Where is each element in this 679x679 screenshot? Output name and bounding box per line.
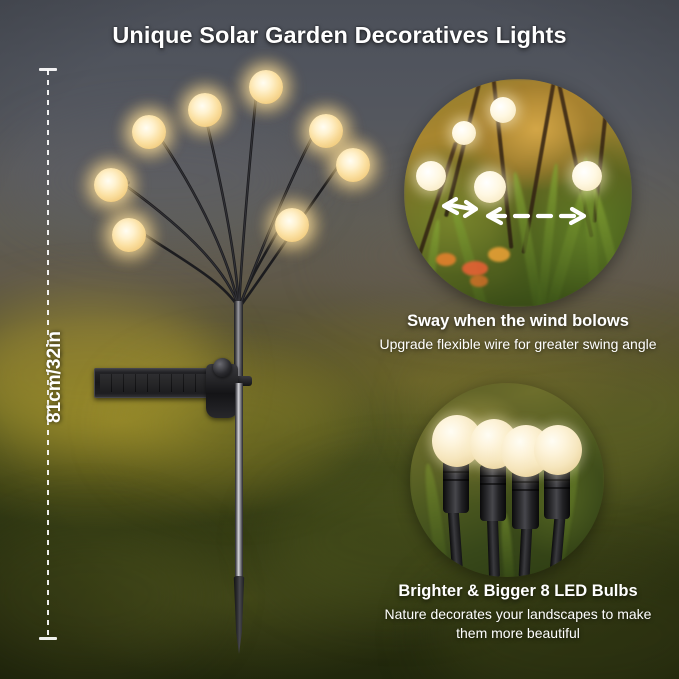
height-dimension: 81cm/32in <box>38 66 58 642</box>
led-bulb <box>336 148 370 182</box>
feature-subtext: Upgrade flexible wire for greater swing … <box>368 335 668 354</box>
led-bulb <box>249 70 283 104</box>
feature-caption-bulbs: Brighter & Bigger 8 LED Bulbs Nature dec… <box>368 581 668 642</box>
led-bulb <box>275 208 309 242</box>
product-photo <box>60 58 360 648</box>
motion-arrow-annotation <box>404 79 632 307</box>
page-title: Unique Solar Garden Decoratives Lights <box>0 22 679 49</box>
sway-photo-inset <box>404 79 632 307</box>
dimension-cap-bottom <box>39 637 57 640</box>
feature-caption-sway: Sway when the wind bolows Upgrade flexib… <box>368 311 668 354</box>
led-bulb <box>188 93 222 127</box>
solar-panel <box>94 368 212 398</box>
adjust-knob <box>213 358 232 377</box>
feature-subtext: Nature decorates your landscapes to make… <box>368 605 668 643</box>
led-bulb <box>112 218 146 252</box>
feature-heading: Brighter & Bigger 8 LED Bulbs <box>368 581 668 602</box>
led-bulb <box>94 168 128 202</box>
led-bulb <box>132 115 166 149</box>
product-infographic: Unique Solar Garden Decoratives Lights 8… <box>0 0 679 679</box>
led-bulb-closeup-inset <box>410 383 604 577</box>
stake-shaft <box>235 383 243 583</box>
feature-heading: Sway when the wind bolows <box>368 311 668 332</box>
